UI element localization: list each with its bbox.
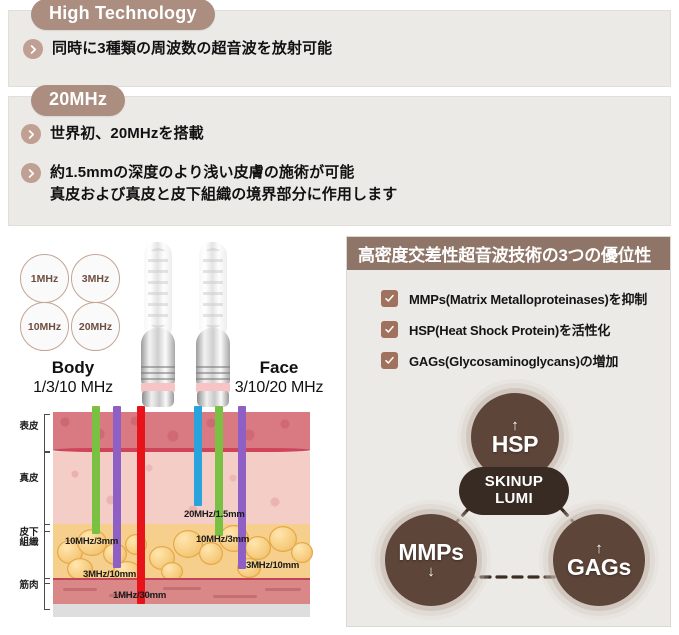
bullet-item: 同時に3種類の周波数の超音波を放射可能 xyxy=(23,38,332,60)
device-frequencies: 1/3/10 MHz xyxy=(14,378,132,397)
muscle-fiber xyxy=(265,588,301,591)
muscle-fiber xyxy=(163,587,201,590)
bullet-text: 同時に3種類の周波数の超音波を放射可能 xyxy=(52,38,332,60)
layer-brace xyxy=(44,578,50,610)
frequency-badge-1mhz: 1MHz xyxy=(20,254,69,303)
bullet-text: 約1.5mmの深度のより浅い皮膚の施術が可能 真皮および真皮と皮下組織の境界部分… xyxy=(50,162,397,206)
check-icon xyxy=(381,352,398,369)
depth-label-3mhz-body: 3MHz/10mm xyxy=(83,569,136,580)
checklist-text: MMPs(Matrix Metalloproteinases)を抑制 xyxy=(409,289,647,308)
depth-label-3mhz-face: 3MHz/10mm xyxy=(246,560,299,571)
frequency-badge-20mhz: 20MHz xyxy=(71,302,120,351)
layer-label-muscle: 筋肉 xyxy=(16,581,42,591)
layer-brace xyxy=(44,452,50,532)
layer-label-dermis: 真皮 xyxy=(16,474,42,484)
handpiece-tip xyxy=(199,242,227,334)
muscle-fiber xyxy=(63,588,97,591)
bullet-text: 世界初、20MHzを搭載 xyxy=(50,123,204,145)
advantages-title: 高密度交差性超音波技術の3つの優位性 xyxy=(358,241,651,266)
depth-label-1mhz-body: 1MHz/30mm xyxy=(113,590,166,601)
chevron-right-icon xyxy=(21,124,41,144)
checklist-item: GAGs(Glycosaminoglycans)の増加 xyxy=(381,351,618,370)
skin-layer-bone xyxy=(53,604,310,617)
badge-line-2: LUMI xyxy=(495,491,533,508)
frequency-badge-10mhz: 10MHz xyxy=(20,302,69,351)
muscle-fiber xyxy=(213,595,257,598)
advantages-header-bar: 高密度交差性超音波技術の3つの優位性 xyxy=(347,237,670,270)
handpiece-tip xyxy=(144,242,172,334)
handpiece-base xyxy=(142,391,174,407)
fat-cell xyxy=(199,542,223,565)
section-20mhz: 20MHz 世界初、20MHzを搭載 約1.5mmの深度のより浅い皮膚の施術が可… xyxy=(8,96,671,226)
bullet-item: 約1.5mmの深度のより浅い皮膚の施術が可能 真皮および真皮と皮下組織の境界部分… xyxy=(21,162,397,206)
device-name: Body xyxy=(14,358,132,378)
handpiece-body xyxy=(141,242,175,402)
handpiece-ring xyxy=(141,366,175,368)
device-illustration-panel: 1MHz 3MHz 10MHz 20MHz Body 1/3/10 MHz xyxy=(8,236,338,627)
depth-label-10mhz-face: 10MHz/3mm xyxy=(196,534,249,545)
check-icon xyxy=(381,290,398,307)
checklist-item: MMPs(Matrix Metalloproteinases)を抑制 xyxy=(381,289,647,308)
handpiece-ring xyxy=(141,372,175,374)
beam-10mhz-body xyxy=(92,406,100,534)
badge-line-1: SKINUP xyxy=(485,474,543,491)
section-tab-high-technology: High Technology xyxy=(31,0,215,30)
handpiece-ring xyxy=(141,378,175,380)
device-frequencies: 3/10/20 MHz xyxy=(220,378,338,397)
checklist-text: GAGs(Glycosaminoglycans)の増加 xyxy=(409,351,618,370)
checklist-item: HSP(Heat Shock Protein)を活性化 xyxy=(381,320,610,339)
beam-1mhz-body xyxy=(137,406,145,604)
depth-label-10mhz-body: 10MHz/3mm xyxy=(65,536,118,547)
node-label: MMPs xyxy=(398,541,463,564)
section-tab-20mhz: 20MHz xyxy=(31,85,125,116)
skin-layer-muscle xyxy=(53,580,310,607)
layer-brace xyxy=(44,524,50,584)
bullet-item: 世界初、20MHzを搭載 xyxy=(21,123,204,145)
frequency-badge-3mhz: 3MHz xyxy=(71,254,120,303)
node-label: HSP xyxy=(492,433,538,456)
depth-label-20mhz-face: 20MHz/1.5mm xyxy=(184,509,245,520)
section-high-technology: High Technology 同時に3種類の周波数の超音波を放射可能 xyxy=(8,10,671,87)
advantages-panel: 高密度交差性超音波技術の3つの優位性 MMPs(Matrix Metallopr… xyxy=(346,236,671,627)
layer-brace xyxy=(44,414,50,452)
device-name: Face xyxy=(220,358,338,378)
chevron-right-icon xyxy=(21,163,41,183)
layer-label-epidermis: 表皮 xyxy=(16,422,42,432)
skinup-lumi-badge: SKINUP LUMI xyxy=(459,467,569,515)
beam-20mhz-face xyxy=(194,406,202,506)
checklist-text: HSP(Heat Shock Protein)を活性化 xyxy=(409,320,610,339)
device-label-body: Body 1/3/10 MHz xyxy=(14,358,132,397)
synergy-triangle-diagram: ↑ HSP MMPs ↓ ↑ GAGs SKINUP LUMI xyxy=(361,387,661,619)
layer-label-subcutaneous: 皮下組織 xyxy=(16,528,42,549)
check-icon xyxy=(381,321,398,338)
infographic-page: High Technology 同時に3種類の周波数の超音波を放射可能 20MH… xyxy=(0,0,679,635)
node-label: GAGs xyxy=(567,556,631,579)
chevron-right-icon xyxy=(23,39,43,59)
node-mmps: MMPs ↓ xyxy=(385,514,477,606)
node-gags: ↑ GAGs xyxy=(553,514,645,606)
device-label-face: Face 3/10/20 MHz xyxy=(220,358,338,397)
skin-cross-section: 20MHz/1.5mm 10MHz/3mm 10MHz/3mm 3MHz/10m… xyxy=(53,412,310,617)
arrow-down-icon: ↓ xyxy=(427,564,435,579)
